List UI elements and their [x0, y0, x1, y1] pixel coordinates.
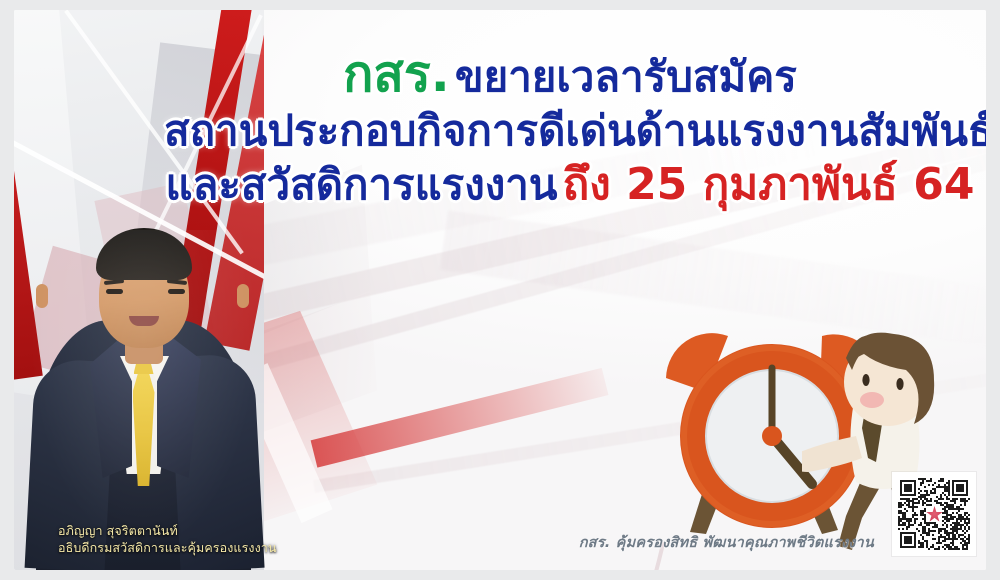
character-eye-left [862, 374, 869, 386]
headline-line-1: กสร. ขยายเวลารับสมัคร [164, 48, 976, 101]
speaker-eye-left [106, 289, 123, 294]
speaker-mouth [129, 316, 159, 326]
speaker-portrait [36, 240, 251, 570]
clock-center-pin [762, 426, 782, 446]
speaker-eye-right [168, 289, 185, 294]
character-cheek [860, 392, 884, 408]
headline-line-2-text: สถานประกอบกิจการดีเด่นด้านแรงงานสัมพันธ์ [164, 106, 986, 155]
speaker-name: อภิญญา สุจริตตานันท์ [58, 523, 308, 540]
announcement-poster: อภิญญา สุจริตตานันท์ อธิบดีกรมสวัสดิการแ… [14, 10, 986, 570]
qr-code-icon[interactable] [892, 472, 976, 556]
headline-line-1-text: ขยายเวลารับสมัคร [455, 52, 797, 101]
speaker-ear-right [237, 284, 249, 308]
agency-abbreviation: กสร. [343, 45, 450, 103]
headline-line-3-text: และสวัสดิการแรงงาน [166, 160, 558, 209]
character-eye-right [896, 378, 903, 390]
footer-slogan: กสร. คุ้มครองสิทธิ พัฒนาคุณภาพชีวิตแรงงา… [579, 531, 874, 554]
deadline-text: ถึง 25 กุมภาพันธ์ 64 [563, 159, 975, 210]
speaker-title: อธิบดีกรมสวัสดิการและคุ้มครองแรงงาน [58, 540, 308, 557]
screenshot-frame: อภิญญา สุจริตตานันท์ อธิบดีกรมสวัสดิการแ… [0, 0, 1000, 580]
speaker-caption: อภิญญา สุจริตตานันท์ อธิบดีกรมสวัสดิการแ… [58, 523, 308, 556]
headline-line-2: สถานประกอบกิจการดีเด่นด้านแรงงานสัมพันธ์ [164, 109, 976, 154]
headline-block: กสร. ขยายเวลารับสมัคร สถานประกอบกิจการดี… [164, 48, 976, 208]
speaker-ear-left [36, 284, 48, 308]
headline-line-3: และสวัสดิการแรงงาน ถึง 25 กุมภาพันธ์ 64 [164, 162, 976, 209]
